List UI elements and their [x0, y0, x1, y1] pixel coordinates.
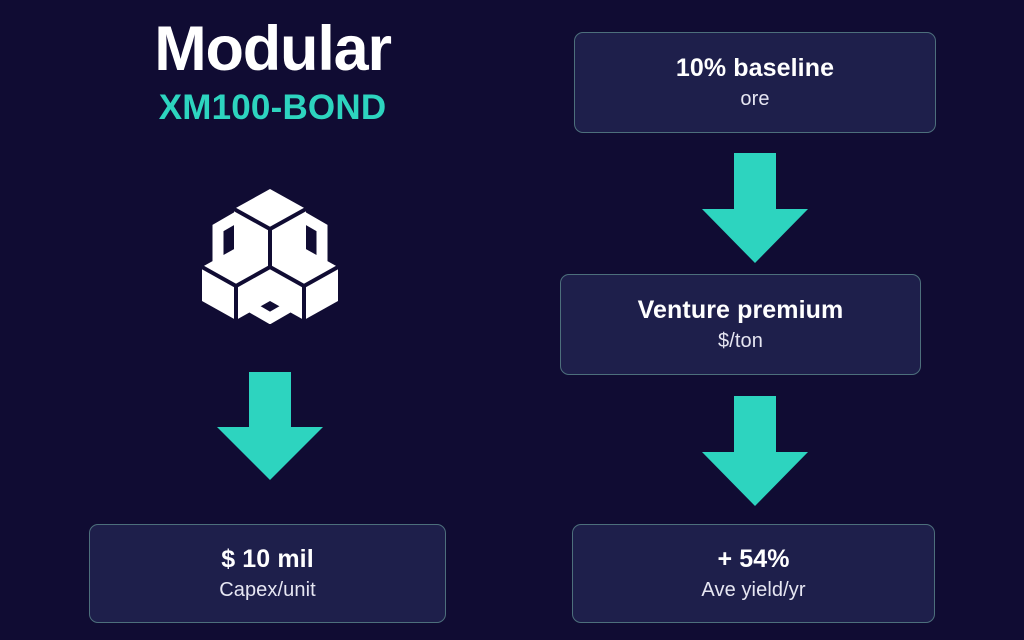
card-venture-premium-value: Venture premium	[638, 295, 844, 325]
card-ave-yield[interactable]: + 54% Ave yield/yr	[572, 524, 935, 623]
modular-blockchain-cubes-icon	[196, 176, 344, 324]
card-venture-premium-label: $/ton	[718, 328, 763, 354]
card-ave-yield-value: + 54%	[717, 544, 789, 574]
card-capex-label: Capex/unit	[219, 577, 316, 603]
infographic-canvas: Modular XM100-BOND	[0, 0, 1024, 640]
card-baseline-value: 10% baseline	[676, 53, 834, 83]
down-arrow-icon-left	[217, 372, 323, 480]
card-capex[interactable]: $ 10 mil Capex/unit	[89, 524, 446, 623]
title-block: Modular XM100-BOND	[0, 16, 545, 128]
card-venture-premium[interactable]: Venture premium $/ton	[560, 274, 921, 375]
down-arrow-icon-right-1	[702, 153, 808, 263]
card-baseline-label: ore	[740, 86, 769, 112]
page-subtitle: XM100-BOND	[0, 89, 545, 128]
page-title: Modular	[0, 16, 545, 82]
card-capex-value: $ 10 mil	[221, 544, 314, 574]
card-baseline[interactable]: 10% baseline ore	[574, 32, 936, 133]
down-arrow-icon-right-2	[702, 396, 808, 506]
card-ave-yield-label: Ave yield/yr	[701, 577, 805, 603]
